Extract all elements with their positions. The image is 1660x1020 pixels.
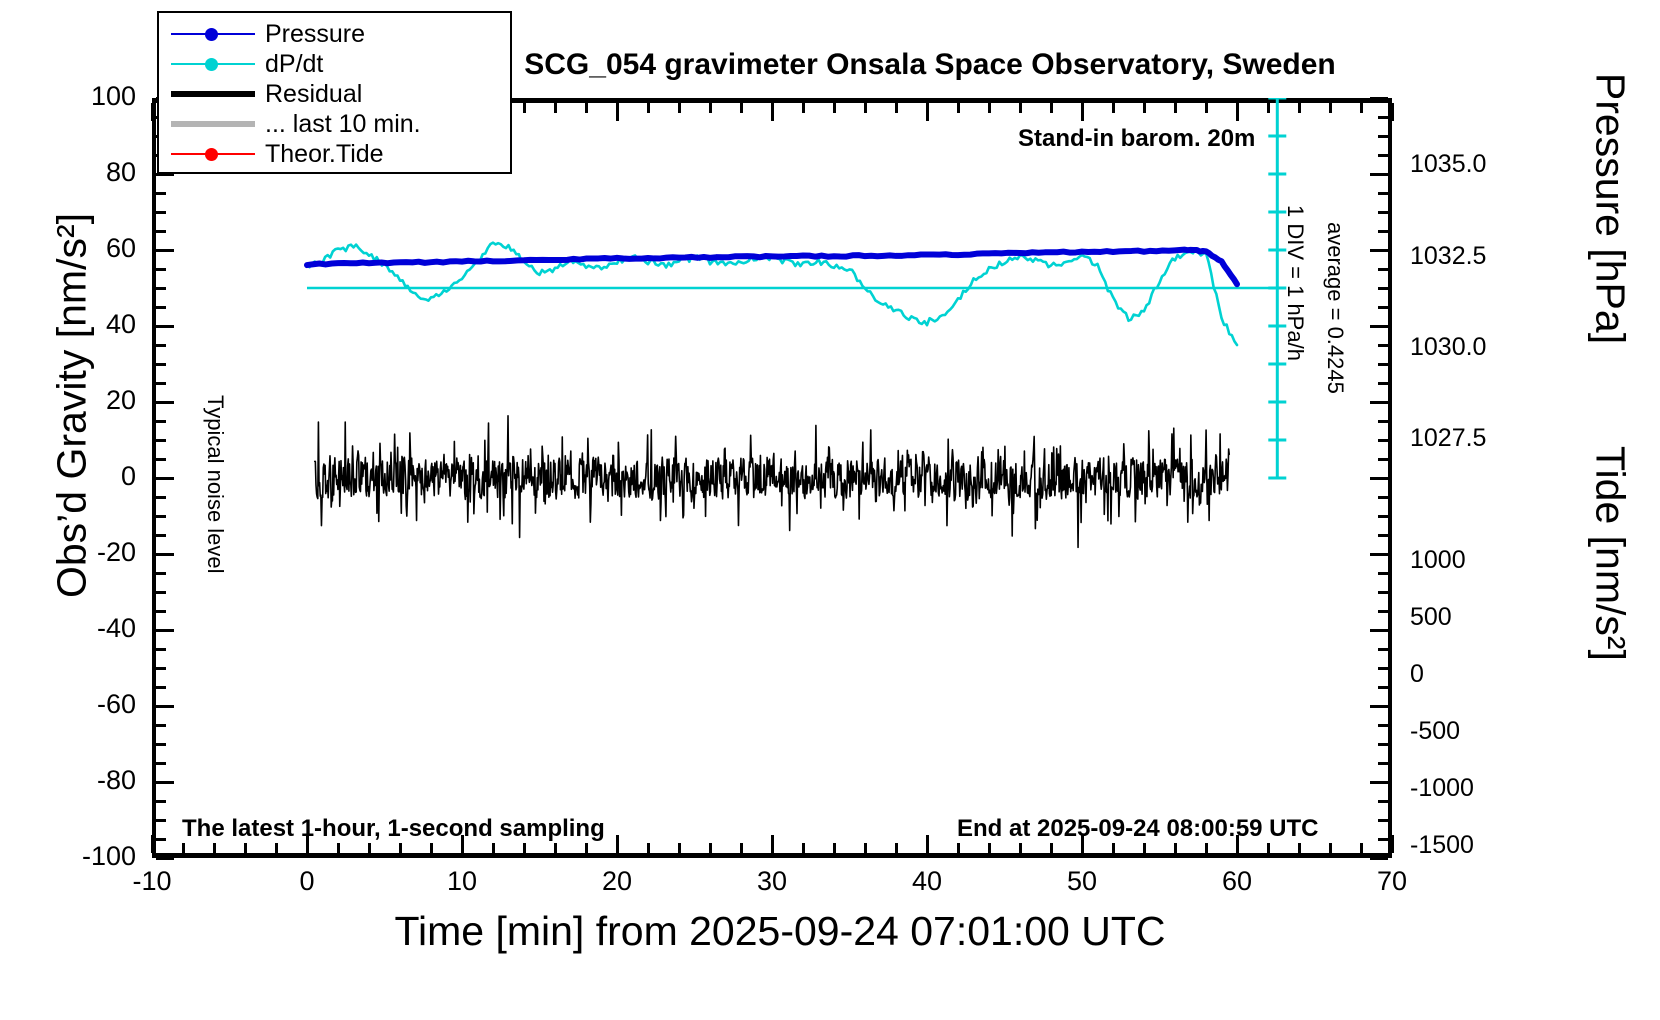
x-tick [554,843,557,853]
legend-label: dP/dt [265,50,323,79]
y-tick-left [156,211,166,214]
y-tick-left [156,819,166,822]
x-tick [895,843,898,853]
x-tick [399,843,402,853]
y-tick-label-left: -80 [26,765,136,796]
y-tick-label-right-tide: 0 [1410,660,1540,689]
y-tick-label-right-pressure: 1030.0 [1410,333,1540,362]
legend-label: Theor.Tide [265,140,384,169]
y-tick-left [156,762,166,765]
legend-label: Pressure [265,20,365,49]
y-tick-left [156,287,166,290]
y-tick-right [1378,819,1388,822]
x-tick-label: 0 [267,866,347,897]
x-tick [771,835,774,853]
x-tick-top [895,103,898,113]
y-tick-left [156,857,174,860]
x-tick [616,835,619,853]
legend-item[interactable]: Theor.Tide [169,139,510,169]
x-tick [1391,835,1394,853]
legend-marker-icon [205,58,218,71]
legend-label: ... last 10 min. [265,110,421,139]
y-tick-right [1378,572,1388,575]
y-tick-left [156,496,166,499]
y-tick-right [1370,857,1388,860]
y-tick-right [1378,154,1388,157]
x-tick [988,843,991,853]
y-tick-right [1378,458,1388,461]
y-tick-left [156,724,166,727]
y-tick-right [1378,344,1388,347]
y-tick-left [156,743,166,746]
y-tick-right [1378,610,1388,613]
legend-label: Residual [265,80,362,109]
x-tick [957,843,960,853]
y-tick-right [1378,211,1388,214]
y-tick-label-left: 100 [26,81,136,112]
x-tick-top [1112,103,1115,113]
y-tick-label-right-tide: -1000 [1410,774,1540,803]
y-tick-right [1378,287,1388,290]
x-tick [182,843,185,853]
x-tick [1143,843,1146,853]
x-tick-top [678,103,681,113]
x-tick-top [1329,103,1332,113]
x-tick-top [957,103,960,113]
y-tick-right [1370,249,1388,252]
y-tick-label-right-tide: -1500 [1410,831,1540,860]
x-tick [151,835,154,853]
x-tick [430,843,433,853]
x-tick-top [988,103,991,113]
y-tick-left [156,534,166,537]
y-tick-right [1378,762,1388,765]
y-tick-right [1378,306,1388,309]
annotation-latest-sampling: The latest 1-hour, 1-second sampling [182,815,605,843]
y-tick-right [1378,648,1388,651]
y-tick-left [156,268,166,271]
x-tick [678,843,681,853]
y-tick-left [156,572,166,575]
y-tick-left [156,230,166,233]
y-tick-left [156,382,166,385]
x-tick [275,843,278,853]
y-tick-left [156,800,166,803]
y-axis-title-right-pressure: Pressure [hPa] [1587,0,1634,419]
x-tick-label: 70 [1352,866,1432,897]
y-tick-right [1370,705,1388,708]
y-tick-left [156,591,166,594]
legend-swatch-icon [169,142,257,166]
x-tick [1298,843,1301,853]
series-residual [315,416,1230,548]
y-tick-label-left: -60 [26,689,136,720]
x-tick-top [151,103,154,121]
legend-swatch-icon [169,52,257,76]
y-tick-left [156,705,174,708]
y-tick-right [1378,724,1388,727]
y-tick-right [1370,781,1388,784]
y-tick-right [1378,686,1388,689]
annotation-standin-barom: Stand-in barom. 20m [1018,125,1255,153]
x-tick-top [771,103,774,121]
legend-swatch-icon [169,22,257,46]
page-title: SCG_054 gravimeter Onsala Space Observat… [430,48,1430,82]
x-tick-top [709,103,712,113]
x-tick-top [864,103,867,113]
y-tick-left [156,667,166,670]
y-tick-left [156,477,174,480]
annotation-div-scale: 1 DIV = 1 hPa/h [1282,205,1308,361]
y-tick-left [156,344,166,347]
x-tick [926,835,929,853]
x-tick [492,843,495,853]
y-tick-right [1370,477,1388,480]
y-tick-right [1378,667,1388,670]
legend-item[interactable]: Residual [169,79,510,109]
y-tick-label-left: -100 [26,841,136,872]
x-tick-top [1360,103,1363,113]
y-tick-label-right-pressure: 1035.0 [1410,150,1540,179]
x-tick-top [1143,103,1146,113]
y-tick-right [1378,496,1388,499]
x-axis-title: Time [min] from 2025-09-24 07:01:00 UTC [330,908,1230,955]
x-tick [740,843,743,853]
y-tick-right [1378,135,1388,138]
legend: PressuredP/dtResidual... last 10 min.The… [157,11,512,174]
x-tick-label: 50 [1042,866,1122,897]
x-tick-label: 40 [887,866,967,897]
y-tick-right [1378,230,1388,233]
x-tick-top [554,103,557,113]
x-tick-label: 60 [1197,866,1277,897]
x-tick-top [740,103,743,113]
y-tick-left [156,648,166,651]
x-tick [213,843,216,853]
legend-item[interactable]: ... last 10 min. [169,109,510,139]
x-tick-top [926,103,929,121]
x-tick [337,843,340,853]
x-tick [1267,843,1270,853]
x-tick [709,843,712,853]
y-tick-right [1378,534,1388,537]
x-tick-top [1205,103,1208,113]
annotation-end-at: End at 2025-09-24 08:00:59 UTC [957,815,1319,843]
x-tick-top [1236,103,1239,121]
y-tick-left [156,686,166,689]
y-tick-right [1378,838,1388,841]
x-tick [523,843,526,853]
y-tick-right [1378,363,1388,366]
series-svg [152,98,1392,858]
annotation-average: average = 0.4245 [1322,222,1348,394]
y-tick-right [1378,382,1388,385]
x-tick [1019,843,1022,853]
x-tick-top [1174,103,1177,113]
y-tick-right [1378,268,1388,271]
x-tick [368,843,371,853]
x-tick [864,843,867,853]
x-tick-label: 10 [422,866,502,897]
y-tick-right [1370,401,1388,404]
x-tick-top [1267,103,1270,113]
x-tick-top [802,103,805,113]
y-tick-left [156,439,166,442]
y-tick-right [1370,173,1388,176]
y-tick-left [156,325,174,328]
x-tick-top [585,103,588,113]
annotation-typical-noise-level: Typical noise level [202,395,228,574]
y-axis-title-left: Obs’d Gravity [nm/s²] [49,126,96,686]
legend-swatch-icon [169,112,257,136]
x-tick-top [1019,103,1022,113]
y-tick-left [156,306,166,309]
y-axis-title-right-tide: Tide [nm/s²] [1587,364,1634,744]
y-tick-left [156,192,166,195]
x-tick [833,843,836,853]
y-tick-left [156,401,174,404]
y-tick-left [156,515,166,518]
x-tick-top [647,103,650,113]
chart-root: SCG_054 gravimeter Onsala Space Observat… [0,0,1660,1020]
y-tick-right [1378,800,1388,803]
plot-canvas [152,98,1392,858]
y-tick-right [1378,591,1388,594]
y-tick-left [156,610,166,613]
x-tick [1360,843,1363,853]
x-tick [1329,843,1332,853]
y-tick-right [1370,553,1388,556]
x-tick [1205,843,1208,853]
x-tick-top [616,103,619,121]
y-tick-right [1378,192,1388,195]
y-tick-right [1378,515,1388,518]
legend-swatch-icon [169,82,257,106]
y-tick-label-right-tide: 1000 [1410,546,1540,575]
y-tick-left [156,838,166,841]
y-tick-right [1370,97,1388,100]
y-tick-right [1378,116,1388,119]
x-tick [802,843,805,853]
x-tick [585,843,588,853]
legend-marker-icon [205,28,218,41]
y-tick-left [156,553,174,556]
x-tick [1174,843,1177,853]
y-tick-right [1378,420,1388,423]
y-tick-label-right-pressure: 1027.5 [1410,424,1540,453]
x-tick-top [833,103,836,113]
x-tick-top [1050,103,1053,113]
y-tick-right [1370,629,1388,632]
x-tick-top [1298,103,1301,113]
x-tick-label: 20 [577,866,657,897]
x-tick-top [1081,103,1084,121]
y-tick-right [1378,439,1388,442]
y-tick-left [156,363,166,366]
x-tick-top [523,103,526,113]
y-tick-label-right-tide: -500 [1410,717,1540,746]
y-tick-left [156,249,174,252]
x-tick [647,843,650,853]
legend-marker-icon [205,148,218,161]
y-tick-right [1378,743,1388,746]
y-tick-right [1370,325,1388,328]
x-tick-top [1391,103,1394,121]
y-tick-left [156,458,166,461]
legend-item[interactable]: dP/dt [169,49,510,79]
y-tick-label-right-tide: 500 [1410,603,1540,632]
y-tick-left [156,781,174,784]
x-tick [244,843,247,853]
y-tick-label-right-pressure: 1032.5 [1410,242,1540,271]
x-tick [1050,843,1053,853]
y-tick-left [156,420,166,423]
x-tick-label: 30 [732,866,812,897]
y-tick-left [156,629,174,632]
x-tick [1112,843,1115,853]
legend-item[interactable]: Pressure [169,19,510,49]
